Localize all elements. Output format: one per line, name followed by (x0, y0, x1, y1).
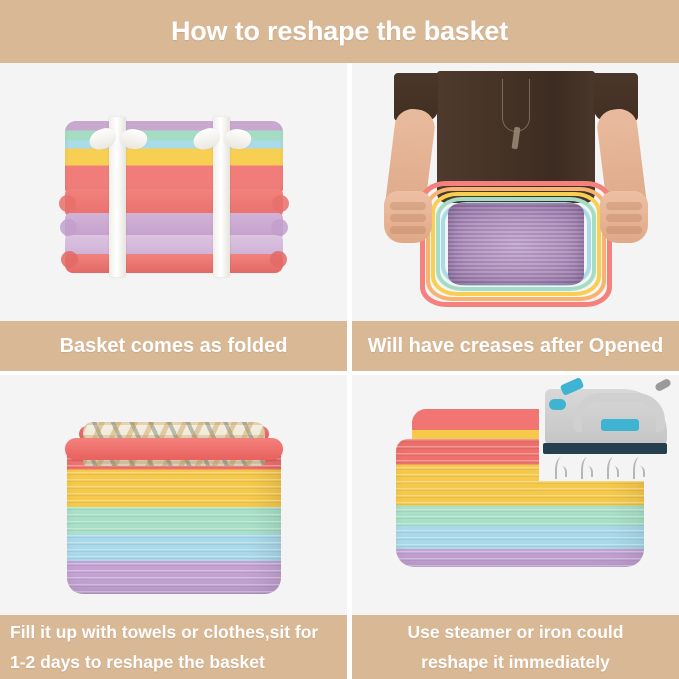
header-banner: How to reshape the basket (0, 0, 679, 63)
caption-fill-with-towels: Fill it up with towels or clothes,sit fo… (0, 615, 347, 679)
iron-cord-tip (654, 378, 672, 393)
rope-texture (67, 444, 281, 594)
ribbon-bow-right (193, 127, 251, 153)
panel-folded: Basket comes as folded (0, 63, 347, 371)
photo-basket-filled (0, 371, 347, 615)
caption-steamer-or-iron: Use steamer or iron could reshape it imm… (352, 615, 679, 679)
folded-rope-edge (60, 219, 77, 236)
folded-rope-edge (61, 251, 78, 268)
caption-creases: Will have creases after Opened (352, 321, 679, 371)
caption-line: Fill it up with towels or clothes,sit fo… (10, 617, 318, 647)
steam-iron-icon (539, 375, 677, 481)
caption-line: Will have creases after Opened (368, 335, 664, 358)
person-figure (352, 63, 679, 321)
caption-line: 1-2 days to reshape the basket (10, 647, 265, 677)
iron-knob-front (601, 419, 639, 431)
page-title: How to reshape the basket (171, 16, 508, 47)
panel-fill-with-towels: Fill it up with towels or clothes,sit fo… (0, 371, 347, 679)
basket-interior-creased (448, 203, 584, 285)
iron-soleplate (543, 443, 667, 454)
basket-body-striped (67, 444, 281, 594)
photo-basket-with-iron (352, 371, 679, 615)
folded-rope-edge (270, 251, 287, 268)
hand-right (600, 191, 648, 243)
photo-folded-basket (0, 63, 347, 321)
panel-steamer-or-iron: Use steamer or iron could reshape it imm… (347, 371, 679, 679)
caption-line: Basket comes as folded (60, 335, 288, 358)
iron-knob-side (549, 399, 566, 410)
basket-rim-front (65, 438, 283, 460)
necklace-cord (502, 79, 530, 132)
panel-creases: Will have creases after Opened (347, 63, 679, 371)
steam-wisps (551, 457, 663, 481)
filled-rainbow-basket (67, 416, 281, 594)
flattened-basket (420, 181, 612, 307)
folded-rope-edge (272, 195, 289, 212)
caption-line: reshape it immediately (421, 647, 610, 677)
ribbon-bow-left (89, 127, 147, 153)
folded-basket-stack (65, 121, 283, 273)
folded-layer-5 (65, 254, 283, 273)
caption-folded: Basket comes as folded (0, 321, 347, 371)
infographic-root: How to reshape the basket (0, 0, 679, 679)
panel-grid: Basket comes as folded (0, 63, 679, 679)
photo-person-holding-basket (352, 63, 679, 321)
hand-left (384, 191, 432, 243)
caption-line: Use steamer or iron could (408, 617, 624, 647)
folded-rope-edge (59, 195, 76, 212)
folded-rope-edge (271, 219, 288, 236)
